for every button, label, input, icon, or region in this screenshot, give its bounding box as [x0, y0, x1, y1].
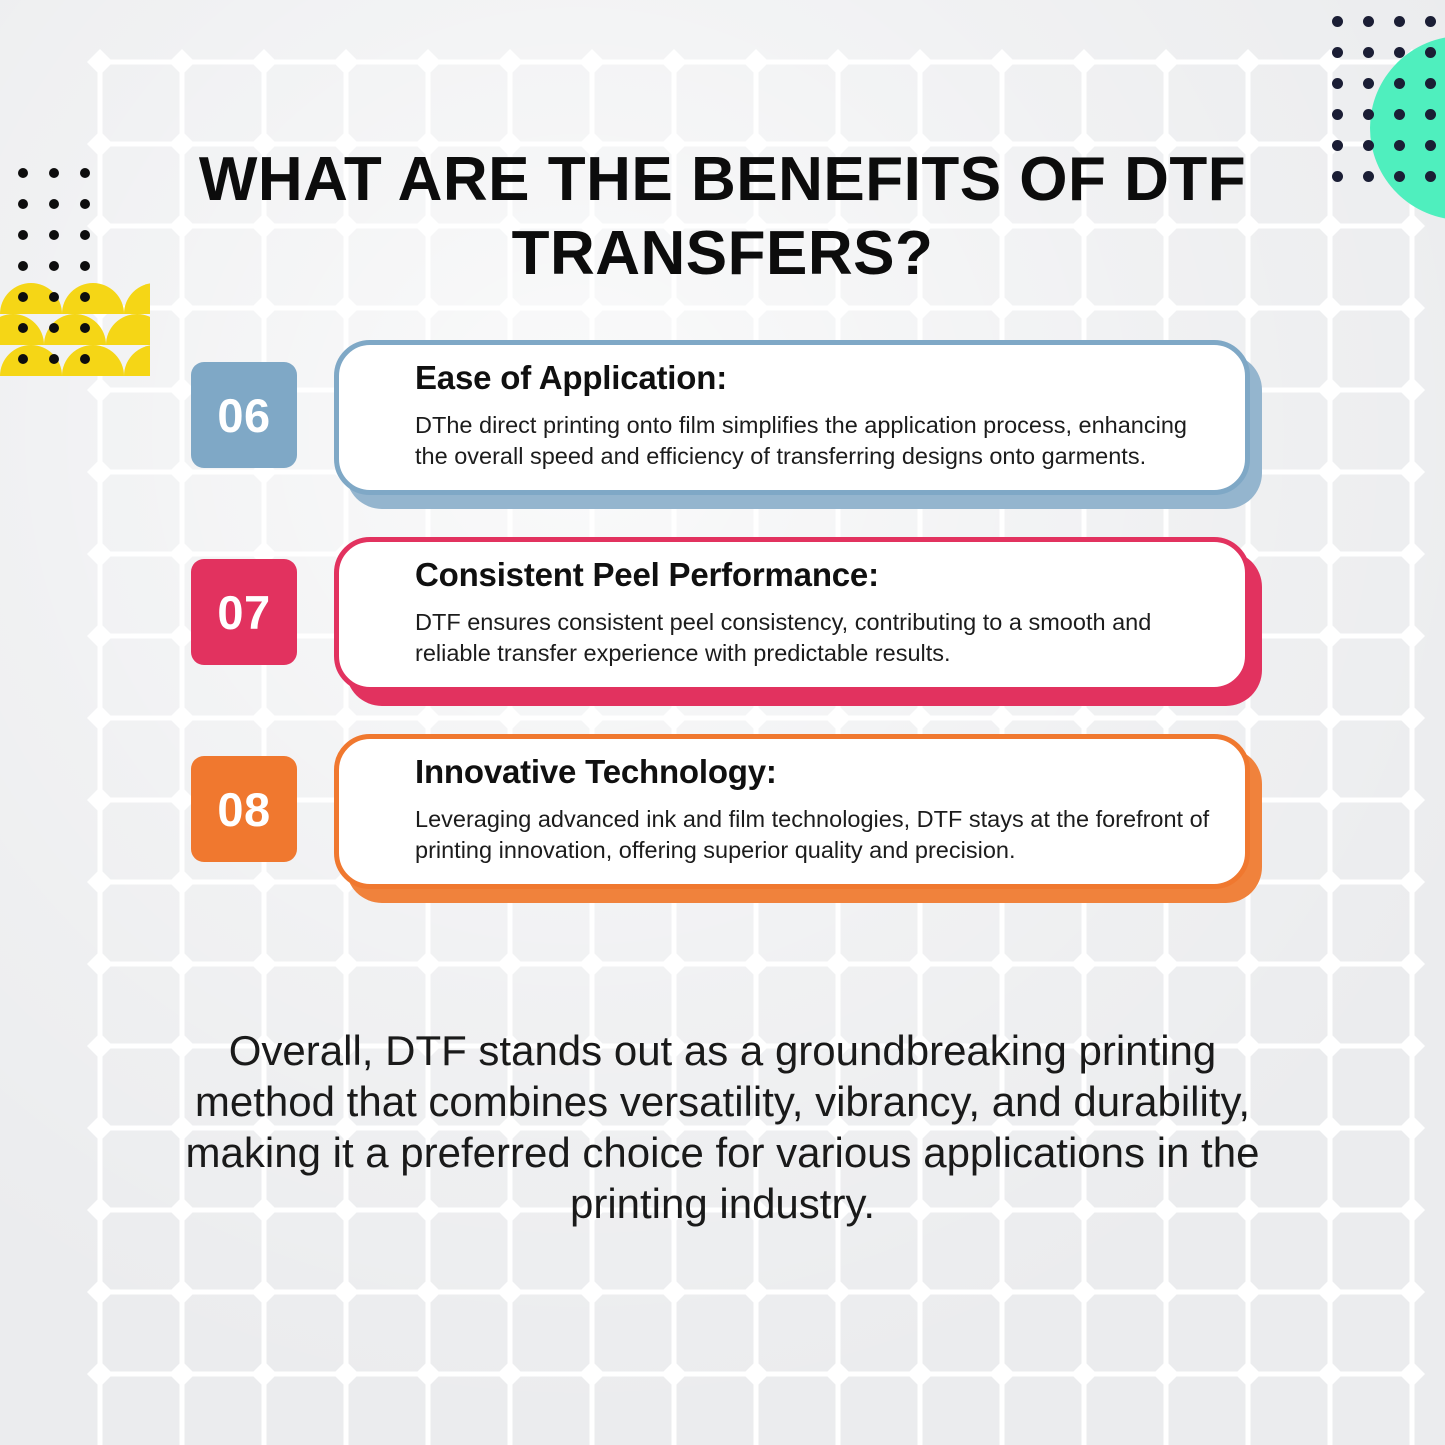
benefit-card: Ease of Application:DThe direct printing…	[334, 340, 1250, 495]
closing-paragraph: Overall, DTF stands out as a groundbreak…	[170, 1025, 1275, 1229]
benefit-title: Ease of Application:	[415, 359, 727, 397]
benefit-number-badge: 08	[191, 756, 297, 862]
benefit-card: Consistent Peel Performance:DTF ensures …	[334, 537, 1250, 692]
benefit-description: Leveraging advanced ink and film technol…	[415, 804, 1225, 866]
benefit-number-badge: 07	[191, 559, 297, 665]
infographic-content: WHAT ARE THE BENEFITS OF DTF TRANSFERS? …	[0, 0, 1445, 1445]
benefit-row: 06Ease of Application:DThe direct printi…	[0, 340, 1445, 515]
benefit-row: 07Consistent Peel Performance:DTF ensure…	[0, 537, 1445, 712]
benefit-card: Innovative Technology:Leveraging advance…	[334, 734, 1250, 889]
page-title: WHAT ARE THE BENEFITS OF DTF TRANSFERS?	[180, 143, 1265, 291]
benefit-description: DTF ensures consistent peel consistency,…	[415, 607, 1225, 669]
benefit-title: Consistent Peel Performance:	[415, 556, 879, 594]
benefit-number-badge: 06	[191, 362, 297, 468]
benefit-title: Innovative Technology:	[415, 753, 777, 791]
benefit-row: 08Innovative Technology:Leveraging advan…	[0, 734, 1445, 909]
benefit-description: DThe direct printing onto film simplifie…	[415, 410, 1225, 472]
